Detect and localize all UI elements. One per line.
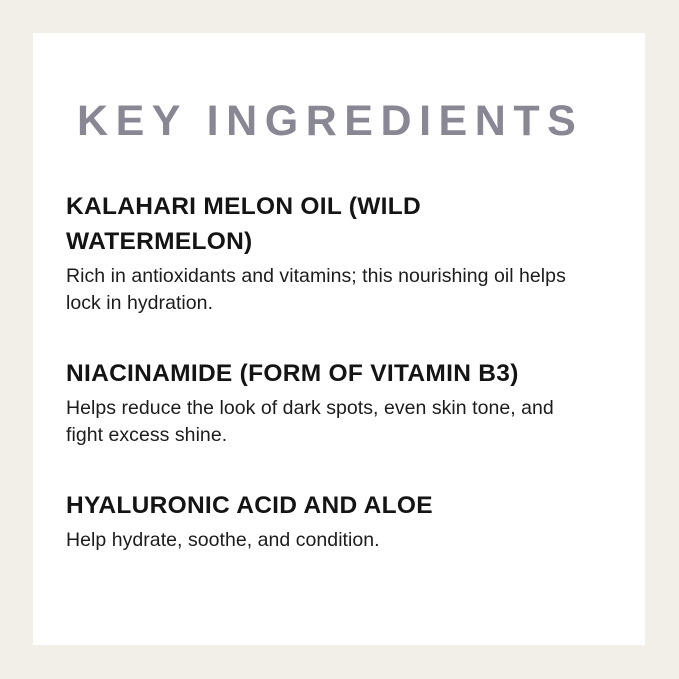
page-title: KEY INGREDIENTS xyxy=(77,88,616,143)
list-item: KALAHARI MELON OIL (WILD WATERMELON) Ric… xyxy=(66,190,589,318)
ingredient-list: KALAHARI MELON OIL (WILD WATERMELON) Ric… xyxy=(66,190,616,555)
list-item: HYALURONIC ACID AND ALOE Help hydrate, s… xyxy=(66,489,589,554)
card-inner: KEY INGREDIENTS KALAHARI MELON OIL (WILD… xyxy=(66,88,616,645)
ingredient-name: NIACINAMIDE (FORM OF VITAMIN B3) xyxy=(66,357,589,392)
outer-frame: KEY INGREDIENTS KALAHARI MELON OIL (WILD… xyxy=(0,0,679,679)
ingredient-description: Helps reduce the look of dark spots, eve… xyxy=(66,395,589,450)
ingredient-name: KALAHARI MELON OIL (WILD WATERMELON) xyxy=(66,190,589,260)
ingredient-name: HYALURONIC ACID AND ALOE xyxy=(66,489,589,524)
content-card: KEY INGREDIENTS KALAHARI MELON OIL (WILD… xyxy=(33,33,645,645)
ingredient-description: Help hydrate, soothe, and condition. xyxy=(66,527,589,555)
list-item: NIACINAMIDE (FORM OF VITAMIN B3) Helps r… xyxy=(66,357,589,450)
ingredient-description: Rich in antioxidants and vitamins; this … xyxy=(66,263,589,318)
